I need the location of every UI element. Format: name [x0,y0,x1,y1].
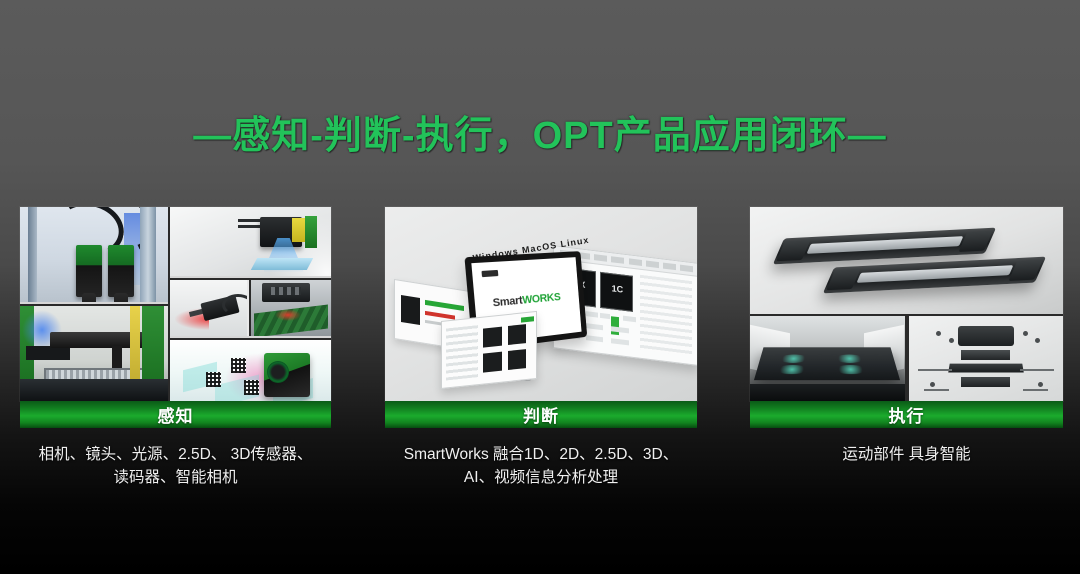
photo-inspection-machine [20,304,168,401]
photo-linear-actuators [750,207,1063,314]
card-execution-caption: 运动部件 具身智能 [750,443,1063,466]
caption-line-2: AI、视频信息分析处理 [389,466,693,489]
caption-line-2: 读码器、智能相机 [24,466,327,489]
card-row: 感知 相机、镜头、光源、2.5D、 3D传感器、 读码器、智能相机 3X 1C [20,207,1063,497]
card-judgement-label: 判断 [523,402,559,427]
photo-xy-stage [750,316,905,401]
card-judgement[interactable]: 3X 1C Windows MacOS Linux SmartWORKS [385,207,697,489]
card-judgement-image: 3X 1C Windows MacOS Linux SmartWORKS [385,207,697,401]
photo-code-reader [170,338,331,401]
caption-line-1: SmartWorks 融合1D、2D、2.5D、3D、 [389,443,693,466]
card-perception-bar: 感知 [20,401,331,428]
card-execution[interactable]: 执行 运动部件 具身智能 [750,207,1063,466]
caption-line-1: 运动部件 具身智能 [754,443,1059,466]
card-perception-caption: 相机、镜头、光源、2.5D、 3D传感器、 读码器、智能相机 [20,443,331,489]
card-execution-image [750,207,1063,401]
slide-root: —感知-判断-执行，OPT产品应用闭环— [0,0,1080,574]
title-container: —感知-判断-执行，OPT产品应用闭环— [0,104,1080,159]
smartworks-logo: SmartWORKS [493,291,562,309]
card-perception-image [20,207,331,401]
card-execution-bar: 执行 [750,401,1063,428]
photo-exploded-assembly [907,316,1064,401]
card-execution-label: 执行 [889,402,925,427]
software-value-2: 1C [612,283,624,294]
photo-3d-sensor [170,207,331,276]
card-judgement-caption: SmartWorks 融合1D、2D、2.5D、3D、 AI、视频信息分析处理 [385,443,697,489]
photo-pair-row [170,278,331,336]
card-perception[interactable]: 感知 相机、镜头、光源、2.5D、 3D传感器、 读码器、智能相机 [20,207,331,489]
photo-pcb-inspection [249,280,331,336]
page-title: —感知-判断-执行，OPT产品应用闭环— [193,104,886,159]
software-panel-middle [441,311,537,389]
photo-laser-module [170,280,246,336]
card-perception-label: 感知 [158,402,194,427]
card-judgement-bar: 判断 [385,401,697,428]
photo-gantry-cameras [20,207,168,302]
caption-line-1: 相机、镜头、光源、2.5D、 3D传感器、 [24,443,327,466]
